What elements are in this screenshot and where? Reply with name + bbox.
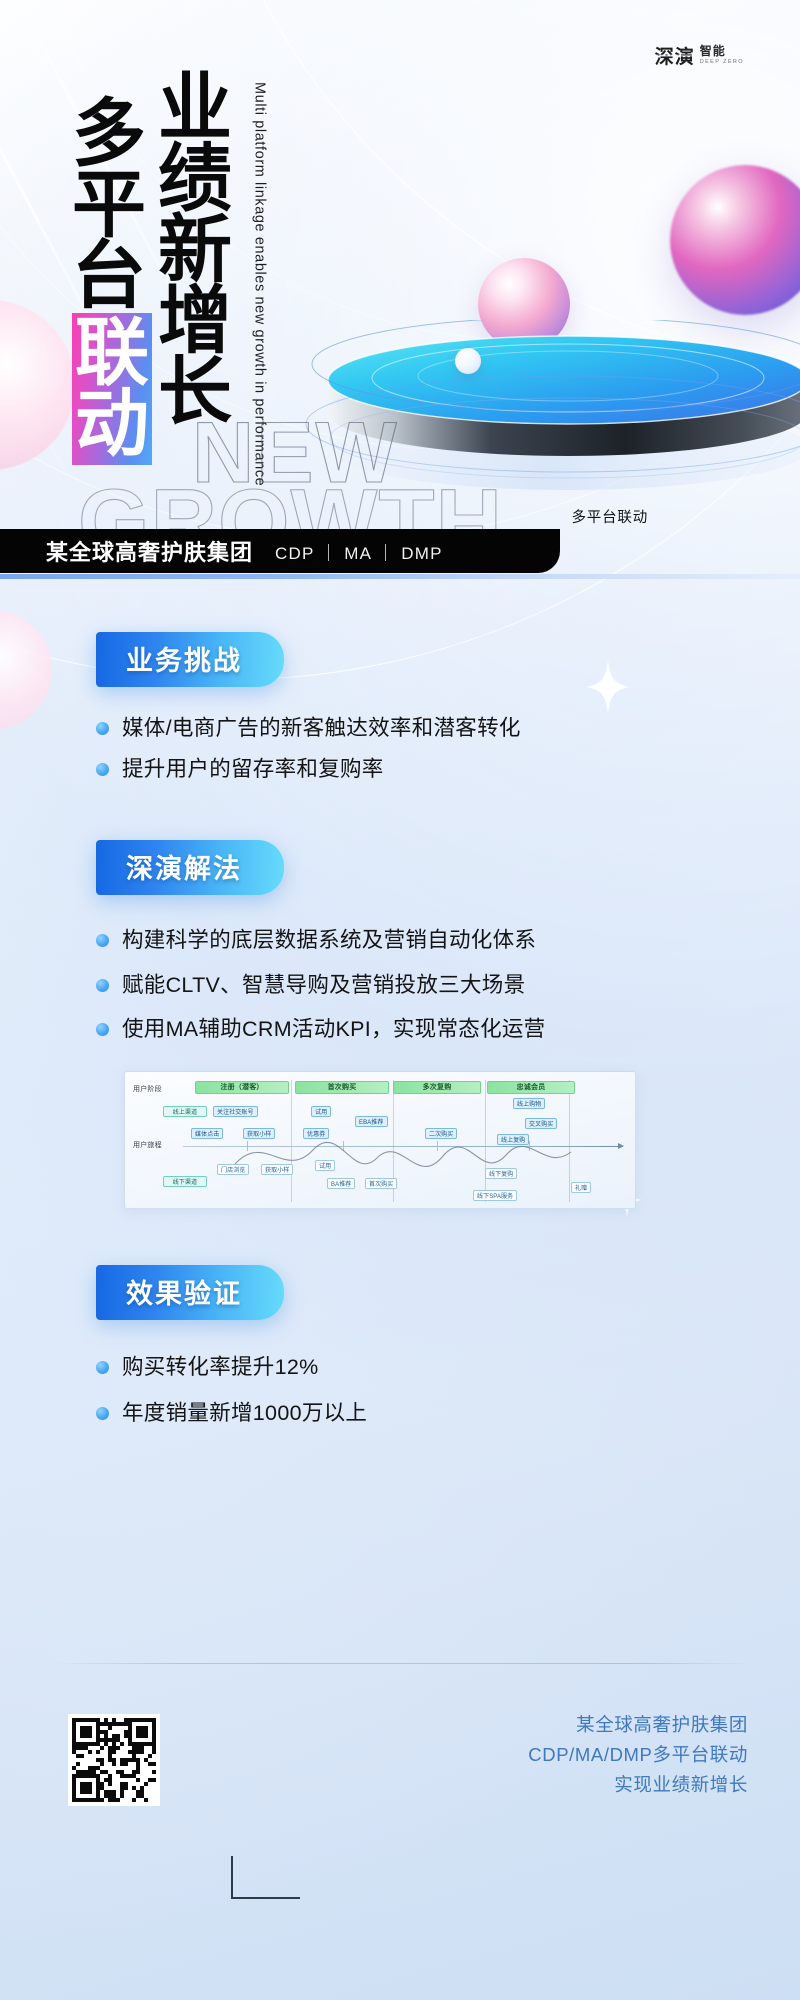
bullet-text: 提升用户的留存率和复购率 (122, 754, 384, 785)
decor-orb-gradient-large (670, 165, 800, 315)
logo-sub-cn: 智能 (700, 45, 744, 57)
footer-line: CDP/MA/DMP多平台联动 (528, 1740, 748, 1770)
journey-node: EBA推荐 (355, 1116, 388, 1127)
headline-char: 平 (72, 169, 152, 240)
list-item: 赋能CLTV、智慧导购及营销投放三大场景 (96, 970, 800, 1001)
list-item: 媒体/电商广告的新客触达效率和潜客转化 (96, 713, 800, 744)
list-item: 构建科学的底层数据系统及营销自动化体系 (96, 925, 800, 956)
journey-node: 礼赠 (571, 1182, 591, 1193)
journey-node: 线下SPA服务 (473, 1190, 517, 1201)
section-heading-badge: 深演解法 (96, 840, 284, 895)
list-item: 年度销量新增1000万以上 (96, 1398, 800, 1429)
qr-code-matrix (72, 1718, 156, 1802)
bullet-text: 媒体/电商广告的新客触达效率和潜客转化 (122, 713, 521, 744)
headline-column-left: 多 平 台 联 动 (72, 98, 152, 465)
journey-node: 优惠券 (303, 1128, 329, 1139)
section-solution: 深演解法 构建科学的底层数据系统及营销自动化体系 赋能CLTV、智慧导购及营销投… (0, 840, 800, 1209)
arrow-icon (228, 1852, 304, 1904)
section-heading-text: 业务挑战 (126, 646, 242, 676)
bullet-list: 构建科学的底层数据系统及营销自动化体系 赋能CLTV、智慧导购及营销投放三大场景… (96, 925, 800, 1045)
bullet-dot-icon (96, 722, 109, 735)
bullet-text: 构建科学的底层数据系统及营销自动化体系 (122, 925, 536, 956)
journey-node: BA推荐 (327, 1178, 355, 1189)
bullet-text: 赋能CLTV、智慧导购及营销投放三大场景 (122, 970, 525, 1001)
brand-logo: 深演 智能 DEEP ZERO (655, 42, 744, 69)
headline-char: 增 (158, 285, 232, 356)
journey-node: 线上购物 (513, 1098, 545, 1109)
headline-column-right: 业 绩 新 增 长 (158, 72, 232, 427)
banner-side-note: 多平台联动 (572, 506, 649, 527)
logo-sub-en: DEEP ZERO (700, 60, 744, 66)
section-business-challenge: 业务挑战 媒体/电商广告的新客触达效率和潜客转化 提升用户的留存率和复购率 (0, 632, 800, 784)
decor-stripe-1 (0, 0, 75, 488)
journey-node: 二次购买 (425, 1128, 457, 1139)
banner-bottom-rule (0, 574, 800, 579)
journey-node: 媒体点击 (191, 1128, 223, 1139)
footer-line: 实现业绩新增长 (528, 1770, 748, 1800)
bullet-list: 购买转化率提升12% 年度销量新增1000万以上 (96, 1352, 800, 1429)
banner-client-title: 某全球高奢护肤集团 (46, 535, 253, 567)
bullet-dot-icon (96, 934, 109, 947)
footer-text-block: 某全球高奢护肤集团 CDP/MA/DMP多平台联动 实现业绩新增长 (528, 1710, 748, 1800)
journey-node: 试用 (311, 1106, 331, 1117)
banner-product-tags: CDP ｜ MA ｜ DMP (275, 539, 443, 564)
headline-char: 业 (158, 72, 232, 143)
bullet-dot-icon (96, 979, 109, 992)
bullet-list: 媒体/电商广告的新客触达效率和潜客转化 提升用户的留存率和复购率 (96, 713, 800, 784)
headline-highlight-box: 联 动 (72, 313, 152, 465)
journey-node: 试用 (315, 1160, 335, 1171)
list-item: 购买转化率提升12% (96, 1352, 800, 1383)
bullet-text: 购买转化率提升12% (122, 1352, 319, 1383)
decor-orb-pink-left (0, 300, 75, 470)
section-heading-badge: 效果验证 (96, 1265, 284, 1320)
headline-char-highlight: 联 (75, 317, 149, 388)
journey-node: 交叉购买 (525, 1118, 557, 1129)
section-results: 效果验证 购买转化率提升12% 年度销量新增1000万以上 (0, 1265, 800, 1429)
headline-char: 多 (72, 98, 152, 169)
headline-char: 绩 (158, 143, 232, 214)
logo-mark-text: 深演 (655, 42, 695, 69)
journey-node: 获取小样 (261, 1164, 293, 1175)
bullet-dot-icon (96, 1023, 109, 1036)
client-banner: 某全球高奢护肤集团 CDP ｜ MA ｜ DMP (0, 529, 560, 573)
section-heading-text: 深演解法 (126, 854, 242, 884)
bullet-text: 使用MA辅助CRM活动KPI，实现常态化运营 (122, 1014, 545, 1045)
section-heading-badge: 业务挑战 (96, 632, 284, 687)
journey-node: 门店浏览 (217, 1164, 249, 1175)
headline-char: 新 (158, 214, 232, 285)
headline-char: 台 (72, 240, 152, 311)
journey-node: 线下复购 (485, 1168, 517, 1179)
headline-char-highlight: 动 (75, 388, 149, 459)
content-body: 业务挑战 媒体/电商广告的新客触达效率和潜客转化 提升用户的留存率和复购率 深演… (0, 588, 800, 1439)
bullet-dot-icon (96, 1407, 109, 1420)
bullet-text: 年度销量新增1000万以上 (122, 1398, 367, 1429)
list-item: 使用MA辅助CRM活动KPI，实现常态化运营 (96, 1014, 800, 1045)
logo-sub: 智能 DEEP ZERO (700, 45, 744, 66)
section-heading-text: 效果验证 (126, 1279, 242, 1309)
journey-node: 首次购买 (365, 1178, 397, 1189)
list-item: 提升用户的留存率和复购率 (96, 754, 800, 785)
journey-node: 线上复购 (497, 1134, 529, 1145)
footer-divider (52, 1663, 752, 1664)
bullet-dot-icon (96, 763, 109, 776)
poster-root: 深演 智能 DEEP ZERO 多 平 台 联 动 业 绩 新 增 长 Mult… (0, 0, 800, 2000)
journey-node: 关注社交账号 (213, 1106, 258, 1117)
footer-line: 某全球高奢护肤集团 (528, 1710, 748, 1740)
customer-journey-diagram: 用户阶段 用户旅程 注册（潜客） 首次购买 多次复购 忠诚会员 线上渠道 线下渠… (124, 1071, 636, 1209)
qr-code[interactable] (68, 1714, 160, 1806)
bullet-dot-icon (96, 1361, 109, 1374)
journey-node: 获取小样 (243, 1128, 275, 1139)
